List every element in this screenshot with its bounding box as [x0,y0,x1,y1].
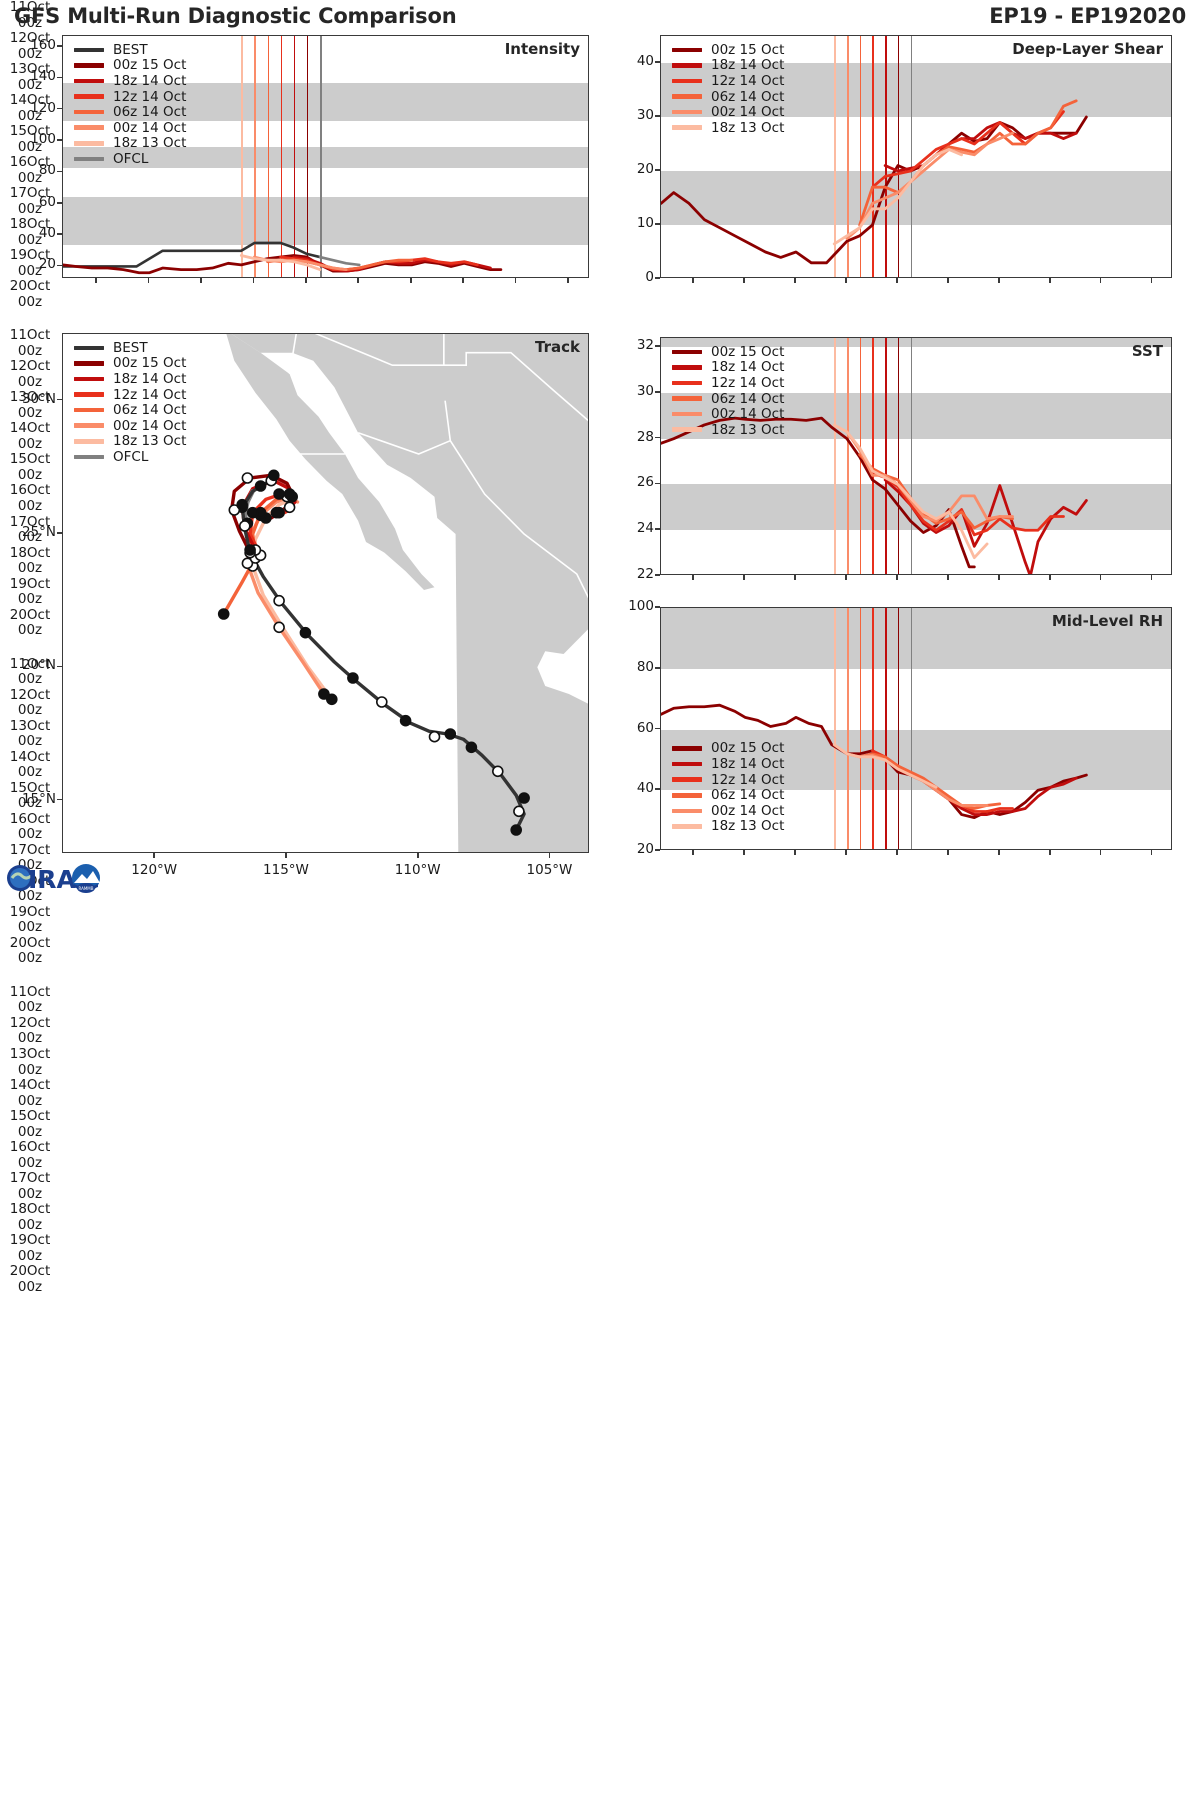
legend-label-run_18z13oct: 18z 13 Oct [113,135,186,151]
legend-track: BEST00z 15 Oct18z 14 Oct12z 14 Oct06z 14… [74,340,186,465]
x-tick [998,850,1000,855]
legend-label-run_00z15oct: 00z 15 Oct [711,42,784,58]
x-tick-label-date: 18Oct [0,546,60,562]
x-tick-label-hour: 00z [0,827,60,843]
panel-title-intensity: Intensity [505,40,580,58]
x-tick-label-group: 19Oct00z [0,905,60,936]
y-tick-label: 24 [618,520,654,536]
x-tick-label-hour: 00z [0,1125,60,1141]
x-tick-label-date: 12Oct [0,1016,60,1032]
legend-rh: 00z 15 Oct18z 14 Oct12z 14 Oct06z 14 Oct… [672,741,784,835]
track-marker [269,470,279,480]
legend-label-best: BEST [113,340,148,356]
x-tick-label-date: 14Oct [0,750,60,766]
legend-swatch-run_12z14oct [672,79,702,84]
lat-tick-label: 15°N [10,791,56,807]
x-tick-label-hour: 00z [0,499,60,515]
legend-item-run_00z15oct[interactable]: 00z 15 Oct [74,356,186,372]
x-tick-label-hour: 00z [0,1031,60,1047]
page-title: GFS Multi-Run Diagnostic Comparison [14,4,456,28]
x-tick-label-group: 14Oct00z [0,421,60,452]
panel-title-track: Track [535,338,580,356]
x-tick [896,575,898,580]
legend-swatch-ofcl [74,157,104,162]
x-tick-label-hour: 00z [0,1156,60,1172]
x-tick-label-date: 15Oct [0,452,60,468]
x-tick [743,575,745,580]
legend-item-run_12z14oct[interactable]: 12z 14 Oct [74,89,186,105]
x-tick-label-date: 13Oct [0,719,60,735]
legend-label-run_12z14oct: 12z 14 Oct [113,387,186,403]
x-tick-label-date: 19Oct [0,1233,60,1249]
legend-item-run_06z14oct[interactable]: 06z 14 Oct [672,787,784,803]
svg-text:RAMMB: RAMMB [79,886,94,891]
legend-swatch-run_18z13oct [74,439,104,444]
legend-swatch-run_06z14oct [74,408,104,413]
x-tick-label-group: 16Oct00z [0,483,60,514]
y-tick [57,265,62,267]
x-tick-label-group: 16Oct00z [0,812,60,843]
x-tick-label-date: 20Oct [0,608,60,624]
legend-label-run_00z14oct: 00z 14 Oct [711,104,784,120]
legend-item-run_12z14oct[interactable]: 12z 14 Oct [672,772,784,788]
x-tick [794,278,796,283]
track-marker [493,766,503,776]
legend-swatch-run_00z14oct [672,412,702,417]
x-tick-label-hour: 00z [0,703,60,719]
track-line-18z-13-oct [253,499,332,699]
y-tick [655,574,660,576]
legend-label-run_18z14oct: 18z 14 Oct [711,57,784,73]
x-tick-label-hour: 00z [0,592,60,608]
legend-shear: 00z 15 Oct18z 14 Oct12z 14 Oct06z 14 Oct… [672,42,784,136]
legend-swatch-run_18z14oct [672,365,702,370]
x-tick-label-group: 12Oct00z [0,359,60,390]
y-tick-label: 30 [618,383,654,399]
y-tick [57,171,62,173]
track-marker [285,489,295,499]
panel-title-shear: Deep-Layer Shear [1012,40,1163,58]
legend-item-run_12z14oct[interactable]: 12z 14 Oct [74,387,186,403]
y-tick [57,45,62,47]
x-tick [567,278,569,283]
x-tick-label-date: 19Oct [0,905,60,921]
svg-text:IRA: IRA [28,865,77,894]
x-tick-label-group: 20Oct00z [0,608,60,639]
lat-tick-label: 20°N [10,657,56,673]
x-tick-label-group: 11Oct00z [0,985,60,1016]
x-tick-label-date: 15Oct [0,1109,60,1125]
x-tick-label-hour: 00z [0,375,60,391]
x-tick [1049,850,1051,855]
x-tick-label-date: 20Oct [0,936,60,952]
lon-tick [285,853,287,858]
x-tick-label-group: 20Oct00z [0,279,60,310]
legend-swatch-run_00z14oct [74,125,104,130]
legend-label-ofcl: OFCL [113,449,148,465]
legend-label-run_00z15oct: 00z 15 Oct [711,740,784,756]
y-tick-label: 60 [618,720,654,736]
legend-item-run_18z14oct[interactable]: 18z 14 Oct [672,756,784,772]
track-marker [401,716,411,726]
x-tick-label-group: 20Oct00z [0,1264,60,1295]
x-tick [896,278,898,283]
lon-tick-label: 105°W [515,862,583,878]
legend-swatch-run_00z15oct [74,361,104,366]
y-tick [57,108,62,110]
x-tick [947,575,949,580]
legend-label-run_00z14oct: 00z 14 Oct [711,406,784,422]
legend-item-ofcl[interactable]: OFCL [74,151,186,167]
series-06z-14-oct [860,754,1000,809]
y-tick-label: 100 [20,131,56,147]
y-tick [655,61,660,63]
legend-label-run_00z15oct: 00z 15 Oct [113,355,186,371]
legend-item-run_00z14oct[interactable]: 00z 14 Oct [672,406,784,422]
legend-label-run_18z13oct: 18z 13 Oct [711,120,784,136]
legend-label-run_18z13oct: 18z 13 Oct [711,422,784,438]
y-tick-label: 20 [618,161,654,177]
track-marker [242,473,252,483]
legend-swatch-run_06z14oct [672,793,702,798]
x-tick-label-group: 13Oct00z [0,1047,60,1078]
y-tick-label: 0 [618,269,654,285]
legend-label-run_12z14oct: 12z 14 Oct [113,89,186,105]
lat-tick [57,799,62,801]
x-tick-label-hour: 00z [0,437,60,453]
y-tick [655,223,660,225]
legend-item-best[interactable]: BEST [74,340,186,356]
track-marker [271,508,281,518]
track-marker [285,502,295,512]
x-tick [896,850,898,855]
x-tick [998,278,1000,283]
x-tick [1049,575,1051,580]
legend-swatch-run_00z15oct [672,746,702,751]
series-18z-13-oct [834,425,987,558]
track-marker [511,825,521,835]
y-tick-label: 32 [618,337,654,353]
legend-swatch-run_06z14oct [74,110,104,115]
legend-item-run_06z14oct[interactable]: 06z 14 Oct [672,89,784,105]
x-tick-label-group: 14Oct00z [0,1078,60,1109]
x-tick [845,278,847,283]
legend-item-run_00z14oct[interactable]: 00z 14 Oct [74,418,186,434]
legend-swatch-run_12z14oct [74,392,104,397]
legend-swatch-run_06z14oct [672,396,702,401]
y-tick [655,528,660,530]
legend-swatch-run_06z14oct [672,94,702,99]
track-marker [219,609,229,619]
x-tick [692,850,694,855]
lon-tick-label: 115°W [252,862,320,878]
x-tick-label-group: 17Oct00z [0,1171,60,1202]
legend-item-best[interactable]: BEST [74,42,186,58]
y-tick-label: 40 [20,225,56,241]
x-tick-label-date: 19Oct [0,577,60,593]
panel-title-rh: Mid-Level RH [1052,612,1163,630]
y-tick [57,233,62,235]
lat-tick [57,666,62,668]
x-tick-label-date: 14Oct [0,421,60,437]
track-line-00z-14-oct [247,497,324,694]
legend-label-run_00z14oct: 00z 14 Oct [113,120,186,136]
x-tick-label-date: 14Oct [0,1078,60,1094]
legend-item-run_00z14oct[interactable]: 00z 14 Oct [672,104,784,120]
legend-swatch-run_18z14oct [74,377,104,382]
track-marker [445,729,455,739]
x-tick [692,575,694,580]
track-marker [466,742,476,752]
x-tick-label-date: 16Oct [0,812,60,828]
lon-tick [417,853,419,858]
legend-item-run_06z14oct[interactable]: 06z 14 Oct [74,104,186,120]
legend-item-run_18z13oct[interactable]: 18z 13 Oct [672,819,784,835]
legend-item-run_12z14oct[interactable]: 12z 14 Oct [672,375,784,391]
series-00z-14-oct [847,432,1013,521]
legend-label-run_18z14oct: 18z 14 Oct [711,359,784,375]
track-marker [430,732,440,742]
legend-label-best: BEST [113,42,148,58]
y-tick-label: 140 [20,68,56,84]
legend-swatch-run_18z13oct [672,824,702,829]
legend-swatch-run_00z15oct [672,350,702,355]
legend-swatch-run_12z14oct [672,381,702,386]
legend-label-run_06z14oct: 06z 14 Oct [113,402,186,418]
y-tick-label: 20 [618,841,654,857]
x-tick [357,278,359,283]
track-marker [514,806,524,816]
x-tick [305,278,307,283]
legend-item-run_00z14oct[interactable]: 00z 14 Oct [672,803,784,819]
legend-item-run_18z13oct[interactable]: 18z 13 Oct [74,434,186,450]
y-tick [57,139,62,141]
x-tick-label-hour: 00z [0,1187,60,1203]
legend-item-run_00z14oct[interactable]: 00z 14 Oct [74,120,186,136]
x-tick-label-date: 20Oct [0,279,60,295]
y-tick [655,437,660,439]
x-tick [845,850,847,855]
x-tick [1100,278,1102,283]
legend-item-ofcl[interactable]: OFCL [74,449,186,465]
lon-tick [549,853,551,858]
legend-swatch-run_12z14oct [74,94,104,99]
x-tick-label-hour: 00z [0,406,60,422]
legend-swatch-run_00z14oct [672,110,702,115]
legend-item-run_18z13oct[interactable]: 18z 13 Oct [672,120,784,136]
legend-item-run_00z15oct[interactable]: 00z 15 Oct [672,42,784,58]
x-tick-label-hour: 00z [0,672,60,688]
legend-label-run_00z14oct: 00z 14 Oct [113,418,186,434]
x-tick-label-hour: 00z [0,561,60,577]
y-tick [655,345,660,347]
lon-tick [153,853,155,858]
legend-label-run_18z14oct: 18z 14 Oct [711,756,784,772]
track-marker [519,793,529,803]
legend-label-ofcl: OFCL [113,151,148,167]
x-tick-label-group: 15Oct00z [0,1109,60,1140]
x-tick [743,278,745,283]
track-marker [300,628,310,638]
legend-swatch-run_18z14oct [74,79,104,84]
track-marker [248,508,258,518]
x-tick [1100,850,1102,855]
x-tick-label-group: 12Oct00z [0,1016,60,1047]
legend-intensity: BEST00z 15 Oct18z 14 Oct12z 14 Oct06z 14… [74,42,186,167]
x-tick [794,850,796,855]
legend-swatch-run_00z14oct [74,423,104,428]
lat-tick-label: 30°N [10,391,56,407]
legend-label-run_12z14oct: 12z 14 Oct [711,772,784,788]
legend-swatch-run_00z15oct [672,48,702,53]
y-tick [655,788,660,790]
y-tick [655,483,660,485]
x-tick-label-date: 11Oct [0,985,60,1001]
x-tick-label-date: 20Oct [0,1264,60,1280]
x-tick [692,278,694,283]
y-tick [57,202,62,204]
legend-item-run_00z15oct[interactable]: 00z 15 Oct [672,344,784,360]
legend-item-run_06z14oct[interactable]: 06z 14 Oct [672,391,784,407]
y-tick [655,115,660,117]
legend-swatch-run_18z13oct [672,427,702,432]
legend-item-run_12z14oct[interactable]: 12z 14 Oct [672,73,784,89]
x-tick-label-date: 12Oct [0,688,60,704]
legend-label-run_12z14oct: 12z 14 Oct [711,375,784,391]
y-tick [655,606,660,608]
legend-label-run_06z14oct: 06z 14 Oct [113,104,186,120]
y-tick [655,849,660,851]
legend-item-run_18z13oct[interactable]: 18z 13 Oct [74,136,186,152]
legend-label-run_18z14oct: 18z 14 Oct [113,371,186,387]
x-tick [200,278,202,283]
legend-label-run_00z15oct: 00z 15 Oct [711,344,784,360]
x-tick-label-hour: 00z [0,1000,60,1016]
legend-swatch-run_18z14oct [672,63,702,68]
legend-label-run_18z13oct: 18z 13 Oct [113,433,186,449]
legend-item-run_00z15oct[interactable]: 00z 15 Oct [74,58,186,74]
legend-item-run_18z14oct[interactable]: 18z 14 Oct [74,73,186,89]
legend-item-run_00z15oct[interactable]: 00z 15 Oct [672,741,784,757]
y-tick-label: 26 [618,474,654,490]
x-tick-label-group: 18Oct00z [0,546,60,577]
series-18z-14-oct [885,480,1086,575]
track-marker [237,500,247,510]
track-marker [377,697,387,707]
y-tick-label: 80 [20,162,56,178]
legend-swatch-ofcl [74,455,104,460]
legend-item-run_18z14oct[interactable]: 18z 14 Oct [672,360,784,376]
series-18z-13-oct [834,745,936,788]
x-tick-label-group: 19Oct00z [0,577,60,608]
x-tick-label-group: 12Oct00z [0,688,60,719]
x-tick-label-hour: 00z [0,623,60,639]
x-tick-label-date: 18Oct [0,1202,60,1218]
x-tick [253,278,255,283]
x-tick-label-hour: 00z [0,1218,60,1234]
y-tick-label: 22 [618,566,654,582]
legend-item-run_18z13oct[interactable]: 18z 13 Oct [672,422,784,438]
x-tick-label-date: 16Oct [0,1140,60,1156]
y-tick-label: 10 [618,215,654,231]
x-tick-label-hour: 00z [0,734,60,750]
legend-label-run_00z14oct: 00z 14 Oct [711,803,784,819]
legend-item-run_06z14oct[interactable]: 06z 14 Oct [74,402,186,418]
y-tick [655,277,660,279]
legend-swatch-run_18z14oct [672,762,702,767]
lat-tick [57,532,62,534]
x-tick [947,278,949,283]
x-tick [1100,575,1102,580]
x-tick [148,278,150,283]
x-tick-label-group: 13Oct00z [0,719,60,750]
x-tick-label-hour: 00z [0,951,60,967]
legend-swatch-run_18z13oct [672,125,702,130]
x-tick [1151,850,1153,855]
x-tick-label-group: 15Oct00z [0,452,60,483]
x-tick [462,278,464,283]
x-tick [947,850,949,855]
x-tick [95,278,97,283]
x-tick-label-hour: 00z [0,920,60,936]
lon-tick-label: 120°W [120,862,188,878]
track-marker [274,622,284,632]
x-tick [743,850,745,855]
track-marker [274,489,284,499]
cira-logo: IRA RAMMB [6,856,116,898]
x-tick [845,575,847,580]
legend-swatch-best [74,346,104,351]
storm-id-label: EP19 - EP192020 [989,4,1186,28]
x-tick [410,278,412,283]
x-tick-label-date: 16Oct [0,483,60,499]
panel-title-sst: SST [1132,342,1163,360]
y-tick [655,728,660,730]
x-tick-label-group: 14Oct00z [0,750,60,781]
y-tick-label: 28 [618,429,654,445]
legend-sst: 00z 15 Oct18z 14 Oct12z 14 Oct06z 14 Oct… [672,344,784,438]
x-tick-label-hour: 00z [0,344,60,360]
series-06z-14-oct [860,101,1077,225]
y-tick-label: 80 [618,659,654,675]
legend-item-run_18z14oct[interactable]: 18z 14 Oct [672,58,784,74]
x-tick-label-hour: 00z [0,1280,60,1296]
legend-label-run_12z14oct: 12z 14 Oct [711,73,784,89]
x-tick-label-group: 18Oct00z [0,1202,60,1233]
x-tick [1049,278,1051,283]
x-tick-label-group: 16Oct00z [0,1140,60,1171]
x-tick-label-hour: 00z [0,1063,60,1079]
legend-swatch-run_00z14oct [672,809,702,814]
x-tick-label-hour: 00z [0,765,60,781]
lat-tick [57,399,62,401]
legend-label-run_18z14oct: 18z 14 Oct [113,73,186,89]
y-tick [57,77,62,79]
legend-item-run_18z14oct[interactable]: 18z 14 Oct [74,371,186,387]
track-marker [319,689,329,699]
x-tick-label-date: 12Oct [0,359,60,375]
series-12z-14-oct [872,751,1012,812]
y-tick-label: 40 [618,780,654,796]
legend-swatch-best [74,48,104,53]
x-tick [515,278,517,283]
x-tick [998,575,1000,580]
track-marker [245,545,255,555]
y-tick [655,667,660,669]
x-tick-label-date: 17Oct [0,1171,60,1187]
y-tick [655,169,660,171]
y-tick-label: 60 [20,194,56,210]
